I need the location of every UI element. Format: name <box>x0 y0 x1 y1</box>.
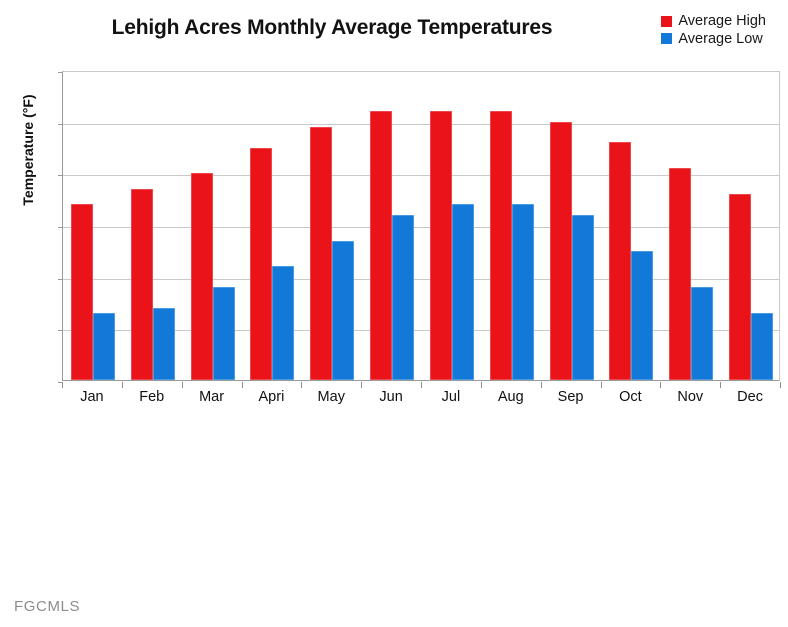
x-tick-label: Dec <box>715 389 785 405</box>
chart-legend: Average High Average Low <box>661 14 766 46</box>
bar-average-low[interactable] <box>153 308 175 380</box>
bar-average-high[interactable] <box>250 148 272 381</box>
bar-group <box>243 72 303 380</box>
bar-average-low[interactable] <box>631 251 653 380</box>
bar-average-low[interactable] <box>332 241 354 381</box>
bar-average-low[interactable] <box>392 215 414 380</box>
x-tick-mark <box>541 382 542 388</box>
bar-average-high[interactable] <box>550 122 572 380</box>
bar-group <box>542 72 602 380</box>
legend-swatch-blue-icon <box>661 33 672 44</box>
y-axis-title: Temperature (°F) <box>20 60 36 240</box>
bar-average-high[interactable] <box>191 173 213 380</box>
x-tick-mark <box>242 382 243 388</box>
bar-average-low[interactable] <box>93 313 115 380</box>
x-tick-mark <box>361 382 362 388</box>
legend-item-average-high[interactable]: Average High <box>661 14 766 29</box>
x-tick-mark <box>720 382 721 388</box>
x-tick-mark <box>481 382 482 388</box>
bar-group <box>362 72 422 380</box>
legend-item-average-low[interactable]: Average Low <box>661 32 762 47</box>
x-tick-mark <box>122 382 123 388</box>
bar-average-low[interactable] <box>213 287 235 380</box>
bar-average-low[interactable] <box>452 204 474 380</box>
bar-average-low[interactable] <box>691 287 713 380</box>
bar-average-low[interactable] <box>272 266 294 380</box>
temperature-bar-chart: Lehigh Acres Monthly Average Temperature… <box>0 0 788 627</box>
x-tick-mark <box>660 382 661 388</box>
bar-average-low[interactable] <box>572 215 594 380</box>
watermark: FGCMLS <box>14 598 80 615</box>
bar-average-high[interactable] <box>131 189 153 380</box>
bar-average-low[interactable] <box>751 313 773 380</box>
x-tick-mark <box>601 382 602 388</box>
bar-group <box>123 72 183 380</box>
bar-average-high[interactable] <box>490 111 512 380</box>
bar-average-high[interactable] <box>71 204 93 380</box>
bar-group <box>63 72 123 380</box>
bar-group <box>302 72 362 380</box>
chart-title: Lehigh Acres Monthly Average Temperature… <box>62 16 602 40</box>
legend-swatch-red-icon <box>661 16 672 27</box>
bar-average-high[interactable] <box>669 168 691 380</box>
bar-average-high[interactable] <box>370 111 392 380</box>
bar-average-high[interactable] <box>609 142 631 380</box>
bar-group <box>661 72 721 380</box>
x-tick-mark <box>421 382 422 388</box>
bar-group <box>482 72 542 380</box>
legend-label-average-high: Average High <box>678 14 766 29</box>
legend-label-average-low: Average Low <box>678 32 762 47</box>
bars-layer <box>63 72 779 380</box>
x-tick-mark <box>780 382 781 388</box>
bar-average-low[interactable] <box>512 204 534 380</box>
x-tick-mark <box>182 382 183 388</box>
bar-average-high[interactable] <box>430 111 452 380</box>
bar-average-high[interactable] <box>729 194 751 380</box>
x-tick-mark <box>62 382 63 388</box>
bar-group <box>721 72 781 380</box>
bar-group <box>602 72 662 380</box>
x-tick-mark <box>301 382 302 388</box>
bar-average-high[interactable] <box>310 127 332 380</box>
bar-group <box>183 72 243 380</box>
bar-group <box>422 72 482 380</box>
plot-area: 100908070605040 <box>62 71 780 381</box>
